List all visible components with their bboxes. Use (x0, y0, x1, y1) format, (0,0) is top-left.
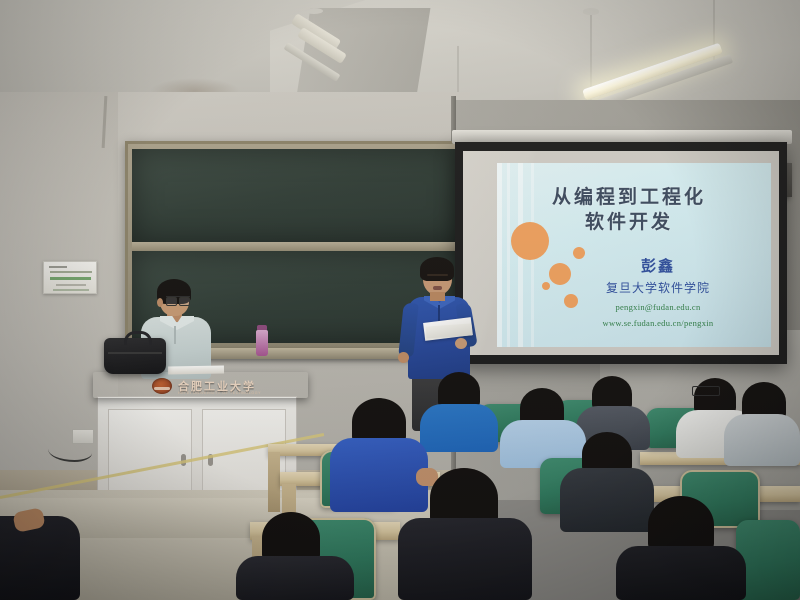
bag-handle (124, 331, 152, 345)
slide-email: pengxin@fudan.edu.cn (553, 302, 763, 312)
water-bottle[interactable] (256, 330, 268, 356)
presenter-neck (430, 292, 445, 301)
slide-title-line2: 软件开发 (497, 210, 761, 235)
glasses-icon (166, 296, 190, 304)
glasses-icon (692, 386, 720, 396)
desk-leg-far (268, 452, 280, 512)
presenter-right-hand (455, 338, 467, 349)
slide-circle-4 (542, 282, 550, 290)
presenter-mouth (433, 286, 442, 290)
podium-university-name-en: HEFEI UNIVERSITY OF TECHNOLOGY (178, 391, 278, 395)
presenter-left-hand (398, 352, 409, 363)
blackboard-divider (132, 242, 459, 251)
slide-speaker-name: 彭鑫 (553, 255, 763, 276)
projector-screen: 从编程到工程化 软件开发 彭鑫 复旦大学软件学院 pengxin@fudan.e… (455, 142, 787, 364)
slide-title-line1: 从编程到工程化 (497, 185, 761, 210)
slide-title: 从编程到工程化 软件开发 (497, 185, 761, 235)
bag-zipper (108, 352, 162, 354)
presenter-hair (420, 257, 454, 281)
lecture-hall-photo: 从编程到工程化 软件开发 彭鑫 复旦大学软件学院 pengxin@fudan.e… (0, 0, 800, 600)
podium-papers (168, 366, 224, 375)
slide-affiliation: 复旦大学软件学院 (553, 279, 763, 296)
university-emblem-icon (152, 378, 172, 394)
host-placket (174, 326, 176, 344)
presentation-slide: 从编程到工程化 软件开发 彭鑫 复旦大学软件学院 pengxin@fudan.e… (497, 163, 771, 347)
screen-surface: 从编程到工程化 软件开发 彭鑫 复旦大学软件学院 pengxin@fudan.e… (463, 151, 779, 355)
plaque (43, 261, 97, 294)
host-ear (157, 298, 163, 307)
presenter-placket (438, 305, 440, 321)
blackboard-upper-panel (132, 149, 459, 242)
slide-website: www.se.fudan.edu.cn/pengxin (553, 318, 763, 328)
presenter-brow (427, 274, 448, 276)
